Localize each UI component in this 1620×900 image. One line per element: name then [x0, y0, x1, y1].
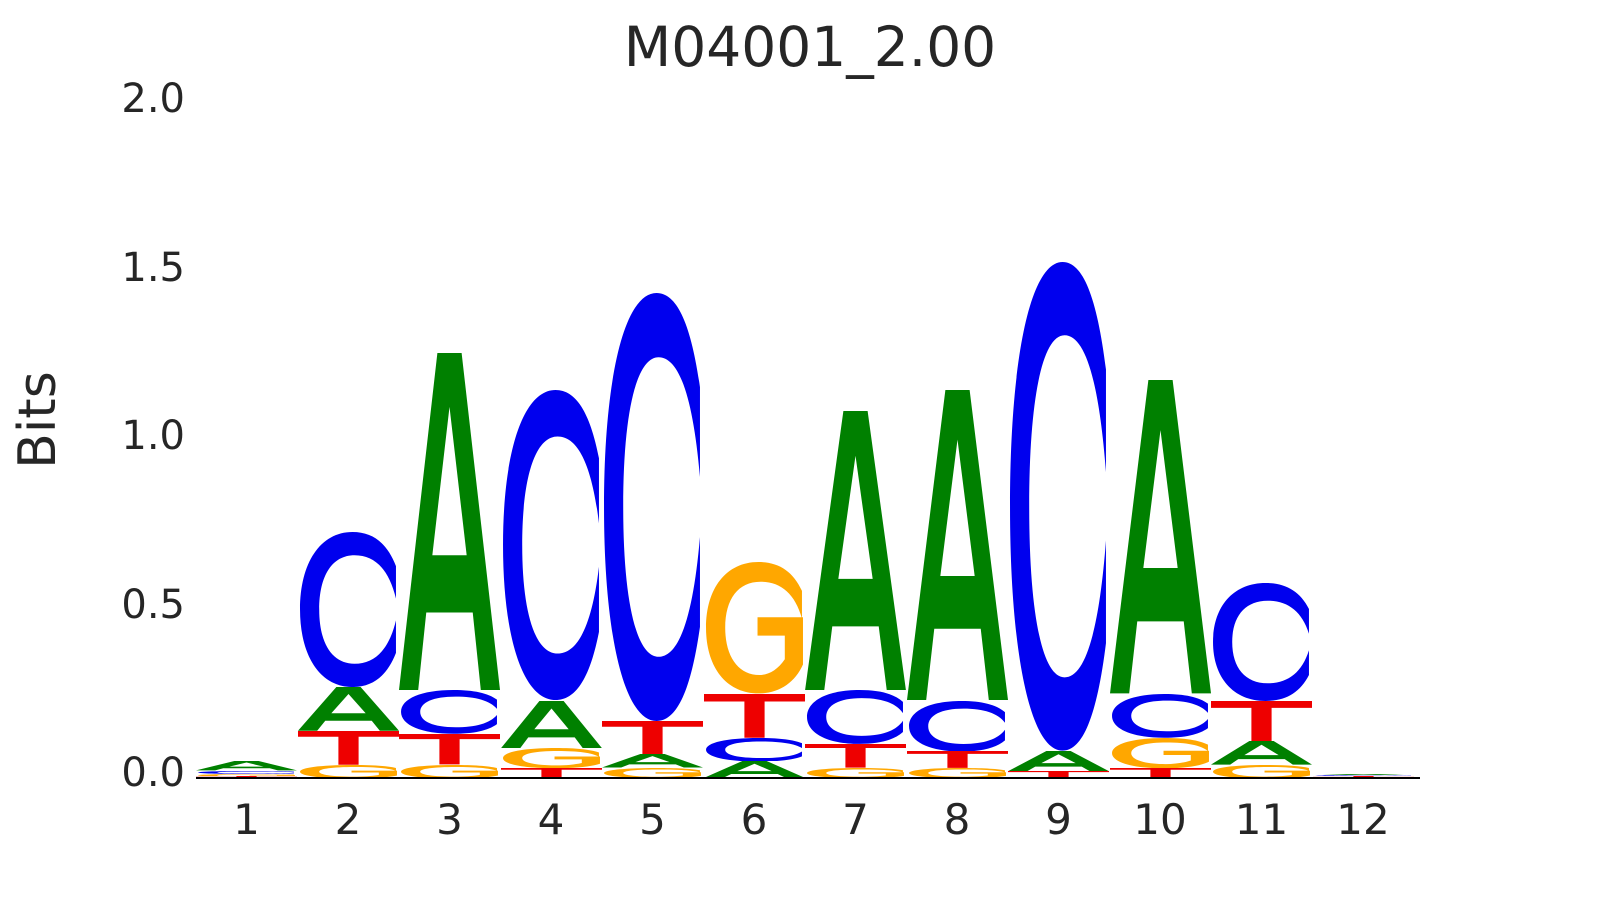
logo-letter-c	[805, 690, 906, 744]
logo-letter-t	[704, 694, 805, 738]
logo-letter-c	[298, 532, 399, 687]
logo-letter-t	[1211, 701, 1312, 741]
logo-position-column[interactable]	[1008, 90, 1109, 778]
logo-position-column[interactable]	[907, 90, 1008, 778]
logo-letter-t	[298, 731, 399, 765]
letter-stack	[704, 90, 805, 778]
x-axis-tick-label: 4	[501, 795, 602, 844]
x-axis-tick-label: 1	[196, 795, 297, 844]
logo-position-column[interactable]	[704, 90, 805, 778]
letter-stack	[399, 90, 500, 778]
logo-letter-g	[1110, 738, 1211, 768]
x-axis-tick-label: 5	[602, 795, 703, 844]
logo-letter-a	[501, 701, 602, 748]
logo-letter-c	[704, 738, 805, 762]
x-axis-tick-label: 9	[1008, 795, 1109, 844]
logo-letter-c	[1008, 262, 1109, 751]
logo-letter-a	[1008, 751, 1109, 771]
sequence-logo-figure: M04001_2.00 Bits 2.01.51.00.50.0 1234567…	[0, 0, 1620, 900]
logo-position-column[interactable]	[1110, 90, 1211, 778]
y-axis-ticks: 2.01.51.00.50.0	[50, 0, 185, 900]
letter-stack	[602, 90, 703, 778]
logo-letter-a	[399, 353, 500, 690]
logo-letter-a	[1110, 380, 1211, 693]
letter-stack	[1008, 90, 1109, 778]
logo-letter-t	[602, 721, 703, 755]
y-axis-tick-label: 1.0	[75, 413, 185, 459]
letter-stack	[907, 90, 1008, 778]
logo-letter-c	[907, 701, 1008, 752]
logo-letter-a	[298, 687, 399, 731]
logo-letter-g	[298, 765, 399, 778]
letter-stack	[501, 90, 602, 778]
logo-position-column[interactable]	[805, 90, 906, 778]
logo-letter-c	[1211, 583, 1312, 701]
x-axis-tick-label: 8	[907, 795, 1008, 844]
x-axis-tick-label: 3	[399, 795, 500, 844]
letter-stack	[196, 90, 297, 778]
logo-position-column[interactable]	[602, 90, 703, 778]
logo-letter-g	[704, 562, 805, 693]
logo-letter-a	[1211, 741, 1312, 765]
logo-position-column[interactable]	[1211, 90, 1312, 778]
x-axis-tick-label: 12	[1313, 795, 1414, 844]
logo-letter-t	[399, 734, 500, 764]
x-axis-tick-label: 7	[805, 795, 906, 844]
x-axis-tick-label: 2	[298, 795, 399, 844]
logo-letter-c	[399, 690, 500, 734]
x-axis-tick-label: 10	[1110, 795, 1211, 844]
logo-position-column[interactable]	[298, 90, 399, 778]
x-axis-tick-label: 11	[1211, 795, 1312, 844]
logo-letter-a	[907, 390, 1008, 700]
x-axis-line	[196, 777, 1420, 779]
logo-letter-a	[196, 761, 297, 770]
plot-area	[196, 90, 1416, 778]
y-axis-tick-label: 1.5	[75, 245, 185, 291]
logo-letter-t	[805, 744, 906, 768]
logo-letter-t	[907, 751, 1008, 768]
logo-letter-c	[602, 293, 703, 721]
letter-stack	[298, 90, 399, 778]
logo-letter-a	[805, 411, 906, 691]
logo-letter-g	[501, 748, 602, 768]
letter-stack	[1110, 90, 1211, 778]
y-axis-tick-label: 0.5	[75, 582, 185, 628]
logo-letter-a	[602, 754, 703, 767]
logo-letter-c	[1110, 694, 1211, 738]
letter-stack	[1313, 90, 1414, 778]
logo-position-column[interactable]	[399, 90, 500, 778]
logo-letter-g	[1211, 765, 1312, 778]
y-axis-tick-label: 2.0	[75, 76, 185, 122]
logo-letter-a	[704, 761, 805, 778]
logo-position-column[interactable]	[196, 90, 297, 778]
x-axis-tick-label: 6	[704, 795, 805, 844]
y-axis-tick-label: 0.0	[75, 750, 185, 796]
letter-stack	[805, 90, 906, 778]
page-title: M04001_2.00	[0, 20, 1620, 75]
logo-position-column[interactable]	[1313, 90, 1414, 778]
logo-letter-g	[399, 765, 500, 778]
logo-position-column[interactable]	[501, 90, 602, 778]
logo-letter-c	[501, 390, 602, 700]
letter-stack	[1211, 90, 1312, 778]
